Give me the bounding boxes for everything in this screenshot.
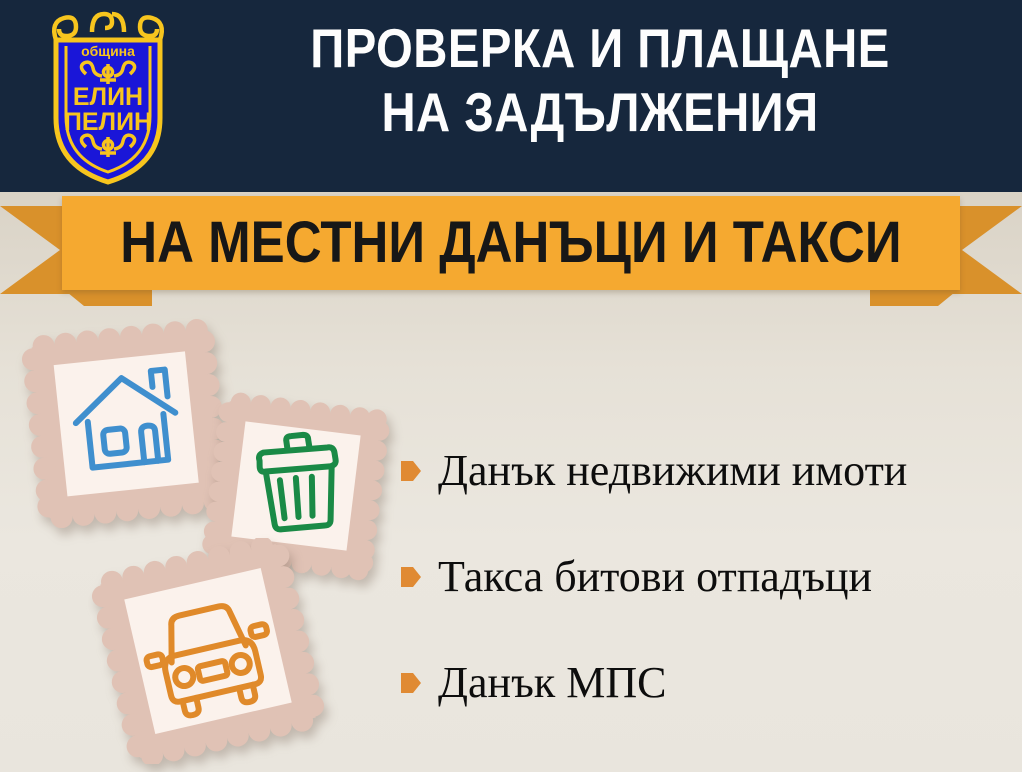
list-item[interactable]: Такса битови отпадъци (400, 524, 1010, 630)
stamp-car-graphic (92, 538, 324, 764)
list-item[interactable]: Данък недвижими имоти (400, 418, 1010, 524)
list-item[interactable]: Данък МПС (400, 630, 1010, 736)
ribbon-fold-right (870, 288, 960, 306)
crest-label-line1: ЕЛИН (73, 83, 143, 111)
crest-label-small: община (81, 43, 135, 59)
page-title-line-1: ПРОВЕРКА И ПЛАЩАНЕ (247, 16, 952, 80)
ribbon-fold-left (62, 288, 152, 306)
bullet-arrow-icon (400, 458, 422, 484)
bullet-arrow-icon (400, 564, 422, 590)
tax-type-list: Данък недвижими имоти Такса битови отпад… (400, 418, 1010, 736)
page-title: ПРОВЕРКА И ПЛАЩАНЕ НА ЗАДЪЛЖЕНИЯ (190, 16, 1010, 144)
list-item-label: Такса битови отпадъци (438, 552, 872, 602)
subtitle-ribbon: НА МЕСТНИ ДАНЪЦИ И ТАКСИ (0, 196, 1022, 308)
page-header: община ЕЛИН ПЕЛИН ПРОВЕРКА И ПЛАЩАНЕ НА … (0, 0, 1022, 192)
crest-icon: община ЕЛИН ПЕЛИН (34, 6, 182, 186)
ribbon-band: НА МЕСТНИ ДАНЪЦИ И ТАКСИ (62, 196, 960, 290)
list-item-label: Данък недвижими имоти (438, 446, 907, 496)
list-item-label: Данък МПС (438, 658, 666, 708)
stamp-card-car (92, 538, 324, 764)
ribbon-label: НА МЕСТНИ ДАНЪЦИ И ТАКСИ (120, 214, 901, 272)
page-title-line-2: НА ЗАДЪЛЖЕНИЯ (247, 80, 952, 144)
crest-label-line2: ПЕЛИН (64, 108, 152, 136)
municipality-crest-logo: община ЕЛИН ПЕЛИН (34, 6, 182, 186)
bullet-arrow-icon (400, 670, 422, 696)
